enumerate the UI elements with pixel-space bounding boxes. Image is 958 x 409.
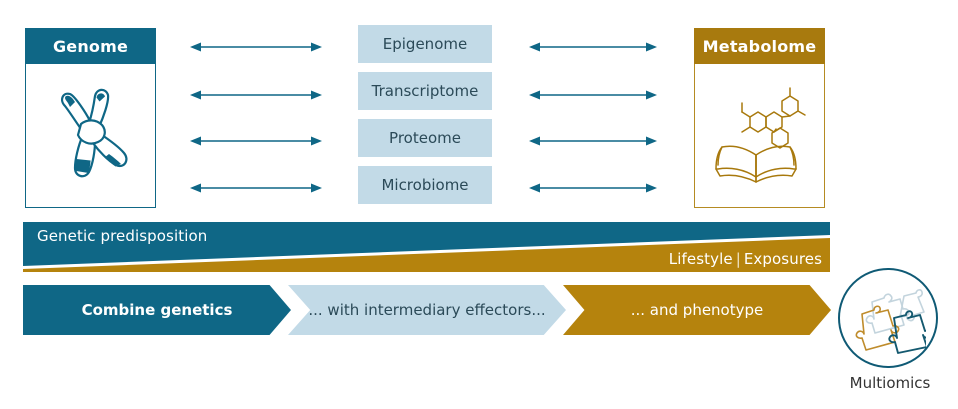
omics-layer-label: Transcriptome [372,82,479,100]
puzzle-pieces-icon [838,268,938,368]
process-step-label: ... with intermediary effectors... [294,301,559,320]
omics-layer-label: Proteome [389,129,461,147]
process-step-combine-genetics[interactable]: Combine genetics [23,285,291,335]
exposures-label: Exposures [744,250,822,268]
open-book-molecules-icon [695,65,824,207]
process-step-label: Combine genetics [68,301,247,320]
diagram-canvas: Genome [0,0,958,409]
double-headed-arrow-icon [190,38,322,50]
double-headed-arrow-icon [190,132,322,144]
double-headed-arrow-icon [190,179,322,191]
double-headed-arrow-icon [529,132,657,144]
multiomics-label: Multiomics [838,374,942,392]
omics-layer-label: Epigenome [383,35,467,53]
omics-layer-microbiome[interactable]: Microbiome [358,166,492,204]
genetic-predisposition-label: Genetic predisposition [37,227,207,245]
process-step-intermediary-effectors[interactable]: ... with intermediary effectors... [288,285,566,335]
chromosome-icon [26,65,155,207]
lifestyle-exposures-label: Lifestyle|Exposures [669,250,822,268]
omics-layer-label: Microbiome [381,176,468,194]
omics-layer-proteome[interactable]: Proteome [358,119,492,157]
double-headed-arrow-icon [529,86,657,98]
process-step-label: ... and phenotype [617,301,778,320]
lifestyle-label: Lifestyle [669,250,733,268]
omics-layer-transcriptome[interactable]: Transcriptome [358,72,492,110]
double-headed-arrow-icon [529,38,657,50]
process-step-phenotype[interactable]: ... and phenotype [563,285,831,335]
genome-card-title: Genome [25,28,156,64]
double-headed-arrow-icon [529,179,657,191]
metabolome-card: Metabolome [694,28,825,208]
genome-card: Genome [25,28,156,208]
multiomics-badge: Multiomics [838,268,942,392]
omics-layer-epigenome[interactable]: Epigenome [358,25,492,63]
metabolome-card-title: Metabolome [694,28,825,64]
label-separator: | [733,250,744,268]
double-headed-arrow-icon [190,86,322,98]
predisposition-exposure-band: Genetic predisposition Lifestyle|Exposur… [23,222,830,272]
